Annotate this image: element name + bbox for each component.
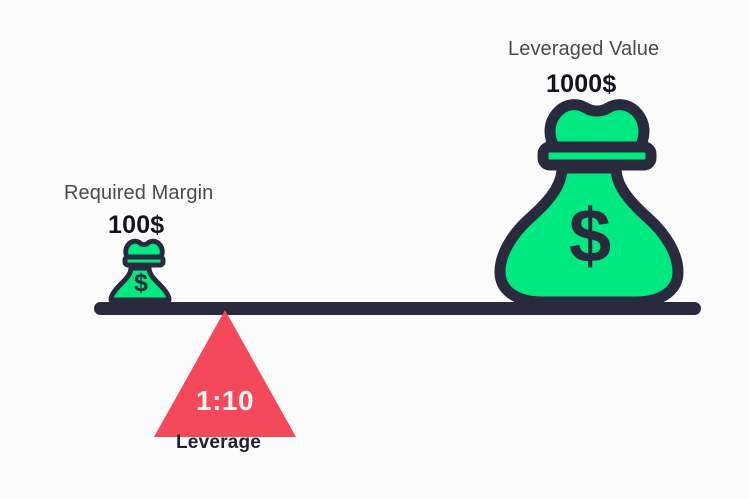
leverage-illustration: $ $ Leveraged Value 1000$ Required Margi… xyxy=(0,0,750,499)
large-money-bag-icon: $ xyxy=(500,105,678,302)
balance-beam xyxy=(94,302,701,315)
fulcrum-triangle xyxy=(154,310,296,437)
large-bag-tie-band xyxy=(543,147,651,165)
dollar-sign-icon: $ xyxy=(569,194,611,279)
leverage-scale-graphic: $ $ xyxy=(0,0,750,499)
small-dollar-sign-icon: $ xyxy=(134,269,148,297)
small-money-bag-icon: $ xyxy=(111,241,169,300)
small-bag-tie-band xyxy=(125,257,163,265)
